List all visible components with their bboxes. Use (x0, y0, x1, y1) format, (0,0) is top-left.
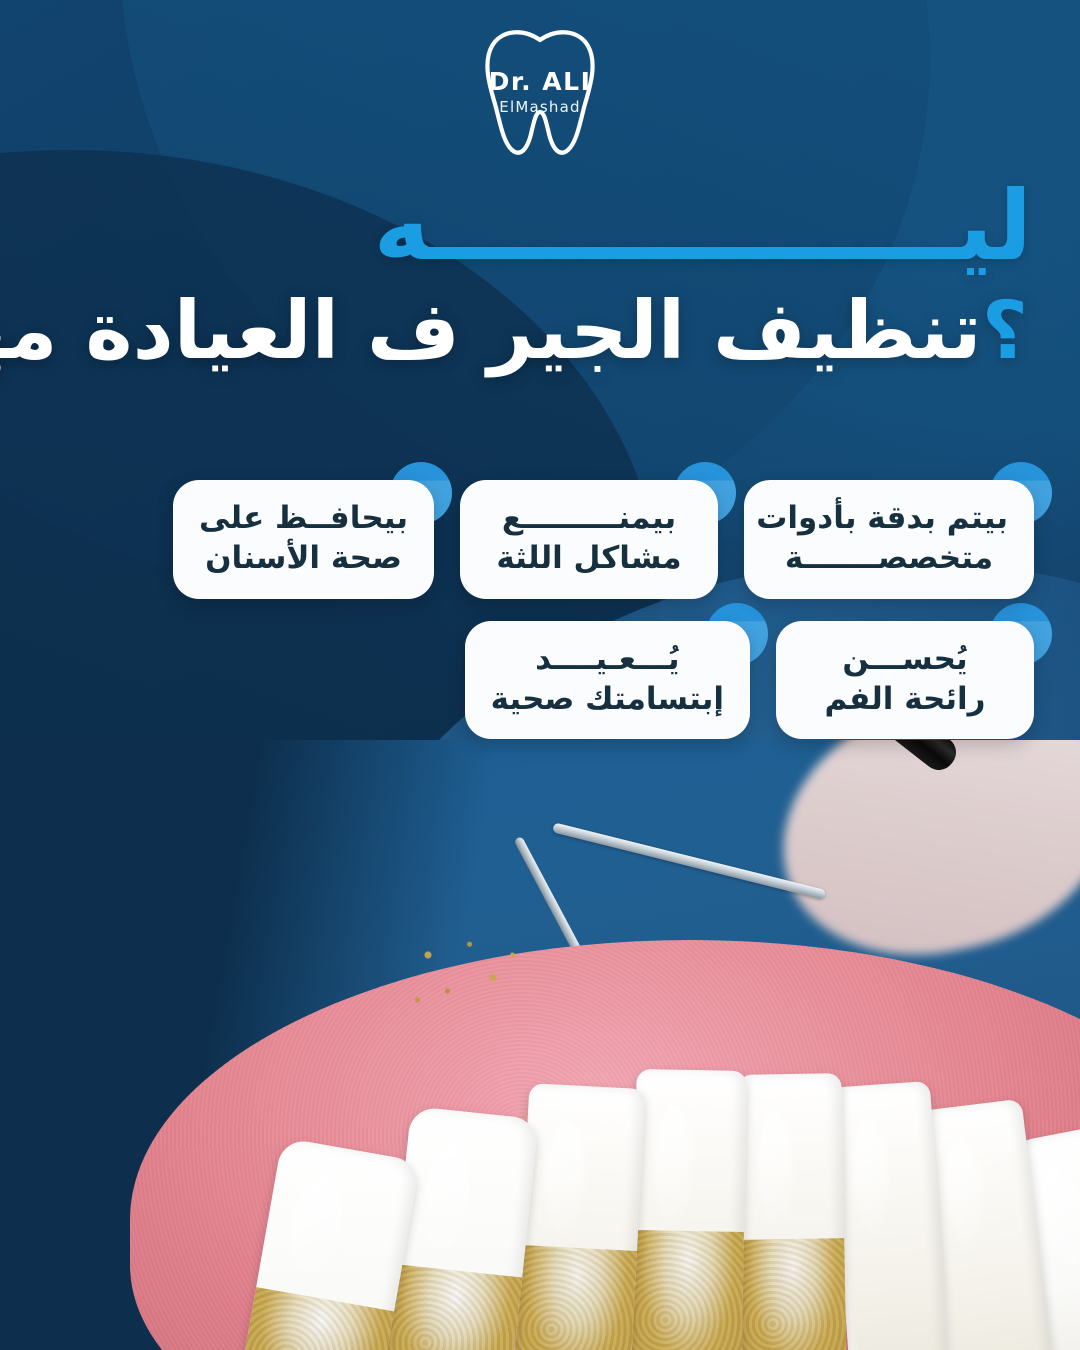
benefits-row-1: بيتم بدقة بأدوات متخصصـــــــة بيمنـــــ… (46, 480, 1034, 599)
tooth-incisor-3 (631, 1069, 746, 1350)
tartar-buildup (382, 1264, 522, 1350)
teeth-arch (90, 910, 1080, 1350)
benefit-text-line-1: بيمنـــــــــع (486, 498, 692, 538)
benefit-card-precise-tools[interactable]: بيتم بدقة بأدوات متخصصـــــــة (744, 480, 1034, 599)
dental-scaling-illustration (0, 740, 1080, 1350)
headline-main-text: تنظيف الجير ف العيادة مهم (0, 284, 982, 377)
benefits-section: بيتم بدقة بأدوات متخصصـــــــة بيمنـــــ… (46, 480, 1034, 761)
logo-name-secondary: ElMashad (499, 98, 580, 116)
tooth-gloss (850, 1120, 892, 1235)
benefit-text-line-2: رائحة الفم (802, 679, 1008, 719)
benefit-card-protects-teeth-health[interactable]: بيحافــظ على صحة الأسنان (173, 480, 434, 599)
tartar-buildup (631, 1230, 744, 1350)
tooth-gloss (543, 1120, 588, 1236)
benefit-text-line-1: يُـــعـيــــد (491, 639, 724, 679)
tartar-buildup (514, 1245, 637, 1350)
headline-question-mark: ؟ (982, 284, 1028, 377)
tooth-canine-right (514, 1083, 646, 1350)
tooth-gloss (941, 1138, 989, 1249)
benefit-text-line-2: صحة الأسنان (199, 538, 408, 578)
tartar-buildup (740, 1238, 846, 1350)
poster-canvas: Dr. ALI ElMashad ليــــــــــــــــه ؟تن… (0, 0, 1080, 1350)
benefit-text-line-2: إبتسامتك صحية (491, 679, 724, 719)
benefit-text-line-2: مشاكل اللثة (486, 538, 692, 578)
headline-line-main: ؟تنظيف الجير ف العيادة مهم (48, 284, 1032, 378)
logo-name-primary: Dr. ALI (489, 67, 592, 96)
benefit-text-line-2: متخصصـــــــة (770, 538, 1008, 578)
benefit-text-line-1: بيتم بدقة بأدوات (770, 498, 1008, 538)
benefit-card-prevents-gum-problems[interactable]: بيمنـــــــــع مشاكل اللثة (460, 480, 718, 599)
tooth-gloss (420, 1142, 475, 1254)
tooth-incisor-2 (737, 1073, 846, 1350)
tooth-incisor-1 (830, 1081, 950, 1350)
tooth-gloss (757, 1111, 794, 1228)
benefits-row-2: يُحســـن رائحة الفم يُـــعـيــــد إبتسام… (46, 621, 1034, 740)
tartar-buildup (237, 1287, 394, 1350)
tooth-gloss (1034, 1163, 1080, 1271)
benefit-text-line-1: بيحافــظ على (199, 498, 408, 538)
tooth-gloss (285, 1173, 349, 1279)
benefit-card-restores-healthy-smile[interactable]: يُـــعـيــــد إبتسامتك صحية (465, 621, 750, 740)
tartar-debris (402, 928, 532, 1018)
benefit-card-improves-breath[interactable]: يُحســـن رائحة الفم (776, 621, 1034, 740)
clinic-logo: Dr. ALI ElMashad (465, 24, 615, 164)
headline-block: ليــــــــــــــــه ؟تنظيف الجير ف العيا… (48, 178, 1032, 378)
benefit-text-line-1: يُحســـن (802, 639, 1008, 679)
tooth-gloss (654, 1107, 693, 1225)
headline-line-top: ليــــــــــــــــه (48, 178, 1032, 276)
